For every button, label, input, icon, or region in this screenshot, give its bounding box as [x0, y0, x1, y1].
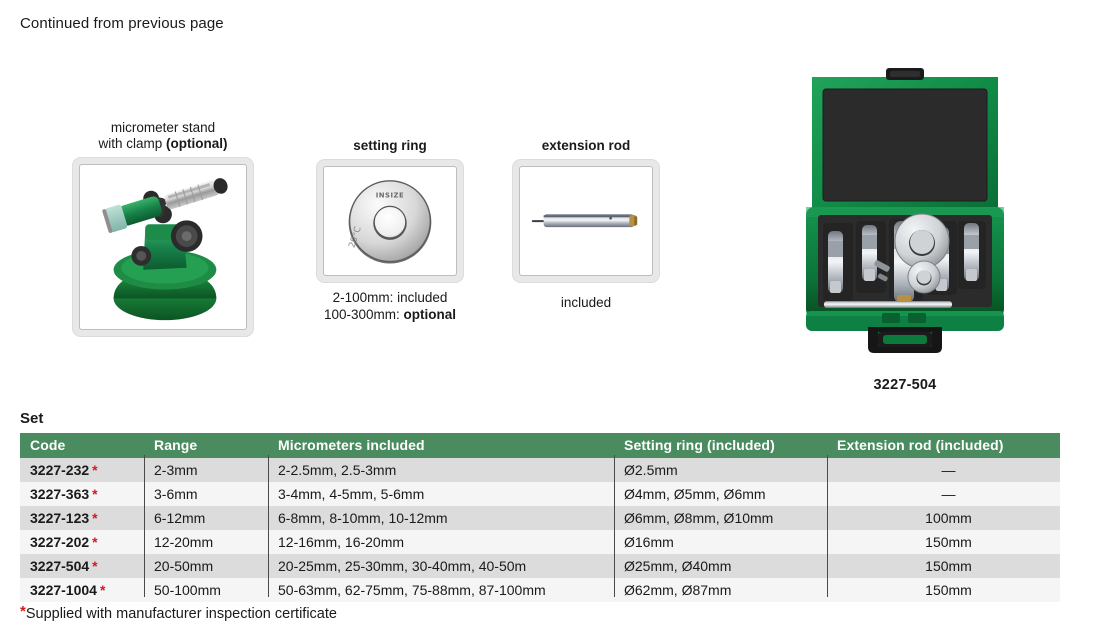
- cell-micrometers: 3-4mm, 4-5mm, 5-6mm: [268, 482, 614, 506]
- cell-micrometers: 50-63mm, 62-75mm, 75-88mm, 87-100mm: [268, 578, 614, 602]
- figure-sub-extension-rod-line1: included: [512, 295, 660, 311]
- cell-code: 3227-232*: [20, 458, 144, 482]
- footnote-text: Supplied with manufacturer inspection ce…: [26, 606, 337, 622]
- column-divider-1: [144, 455, 145, 597]
- cell-extension-rod: 150mm: [827, 554, 1060, 578]
- photo-micrometer-stand: [79, 164, 247, 330]
- cell-code: 3227-202*: [20, 530, 144, 554]
- photo-set-case: [790, 55, 1020, 365]
- cell-extension-rod: —: [827, 482, 1060, 506]
- cell-setting-ring: Ø6mm, Ø8mm, Ø10mm: [614, 506, 827, 530]
- cell-code: 3227-504*: [20, 554, 144, 578]
- column-header-micrometers: Micrometers included: [268, 433, 614, 458]
- photo-extension-rod: [519, 166, 653, 276]
- cell-range: 50-100mm: [144, 578, 268, 602]
- cell-setting-ring: Ø2.5mm: [614, 458, 827, 482]
- figure-extension-rod: extension rod: [512, 138, 660, 311]
- code-value: 3227-232: [30, 462, 89, 478]
- figure-label-set-case: 3227-504: [790, 377, 1020, 393]
- figure-setting-ring: setting ring: [316, 138, 464, 323]
- certificate-asterisk-icon: *: [89, 510, 97, 526]
- cell-micrometers: 2-2.5mm, 2.5-3mm: [268, 458, 614, 482]
- footnote: *Supplied with manufacturer inspection c…: [20, 603, 337, 622]
- set-case-illustration: [790, 55, 1020, 365]
- certificate-asterisk-icon: *: [89, 462, 97, 478]
- cell-extension-rod: 150mm: [827, 578, 1060, 602]
- figure-caption-setting-ring: setting ring: [316, 138, 464, 154]
- setting-ring-illustration: INSIZE 20°C: [324, 167, 456, 275]
- table-row: 3227-504*20-50mm20-25mm, 25-30mm, 30-40m…: [20, 554, 1060, 578]
- certificate-asterisk-icon: *: [89, 534, 97, 550]
- cell-extension-rod: 150mm: [827, 530, 1060, 554]
- svg-text:INSIZE: INSIZE: [376, 192, 404, 200]
- continued-from-previous-page-note: Continued from previous page: [20, 15, 224, 32]
- column-divider-4: [827, 455, 828, 597]
- caption-bold-text: (optional): [166, 136, 227, 151]
- set-spec-table-container: Code Range Micrometers included Setting …: [20, 433, 1060, 602]
- photo-setting-ring: INSIZE 20°C: [323, 166, 457, 276]
- table-body: 3227-232*2-3mm2-2.5mm, 2.5-3mmØ2.5mm—322…: [20, 458, 1060, 602]
- cell-micrometers: 20-25mm, 25-30mm, 30-40mm, 40-50m: [268, 554, 614, 578]
- code-value: 3227-363: [30, 486, 89, 502]
- cell-micrometers: 12-16mm, 16-20mm: [268, 530, 614, 554]
- cell-micrometers: 6-8mm, 8-10mm, 10-12mm: [268, 506, 614, 530]
- code-value: 3227-123: [30, 510, 89, 526]
- sub-plain-text: 100-300mm:: [324, 307, 404, 322]
- cell-range: 12-20mm: [144, 530, 268, 554]
- table-header-row: Code Range Micrometers included Setting …: [20, 433, 1060, 458]
- photo-frame-setting-ring: INSIZE 20°C: [316, 159, 464, 283]
- column-header-code: Code: [20, 433, 144, 458]
- photo-frame-extension-rod: [512, 159, 660, 283]
- caption-plain-text: with clamp: [98, 136, 166, 151]
- figure-sub-setting-ring-line2: 100-300mm: optional: [316, 307, 464, 323]
- cell-setting-ring: Ø16mm: [614, 530, 827, 554]
- figure-caption-extension-rod: extension rod: [512, 138, 660, 154]
- cell-range: 6-12mm: [144, 506, 268, 530]
- column-header-setting-ring: Setting ring (included): [614, 433, 827, 458]
- extension-rod-illustration: [520, 167, 652, 275]
- cell-setting-ring: Ø25mm, Ø40mm: [614, 554, 827, 578]
- table-row: 3227-232*2-3mm2-2.5mm, 2.5-3mmØ2.5mm—: [20, 458, 1060, 482]
- column-divider-3: [614, 455, 615, 597]
- figure-micrometer-stand: micrometer stand with clamp (optional): [72, 120, 254, 337]
- table-row: 3227-1004*50-100mm50-63mm, 62-75mm, 75-8…: [20, 578, 1060, 602]
- column-header-range: Range: [144, 433, 268, 458]
- figure-caption-micrometer-stand-line2: with clamp (optional): [72, 136, 254, 152]
- cell-code: 3227-363*: [20, 482, 144, 506]
- cell-range: 2-3mm: [144, 458, 268, 482]
- cell-setting-ring: Ø4mm, Ø5mm, Ø6mm: [614, 482, 827, 506]
- sub-bold-text: optional: [404, 307, 457, 322]
- set-section-label: Set: [20, 410, 43, 427]
- code-value: 3227-1004: [30, 582, 97, 598]
- certificate-asterisk-icon: *: [89, 486, 97, 502]
- cell-extension-rod: 100mm: [827, 506, 1060, 530]
- certificate-asterisk-icon: *: [89, 558, 97, 574]
- column-header-extension-rod: Extension rod (included): [827, 433, 1060, 458]
- column-divider-2: [268, 455, 269, 597]
- photo-frame-micrometer-stand: [72, 157, 254, 337]
- table-row: 3227-363*3-6mm3-4mm, 4-5mm, 5-6mmØ4mm, Ø…: [20, 482, 1060, 506]
- figure-sub-setting-ring-line1: 2-100mm: included: [316, 290, 464, 306]
- cell-code: 3227-1004*: [20, 578, 144, 602]
- micrometer-stand-illustration: [80, 165, 246, 329]
- table-header: Code Range Micrometers included Setting …: [20, 433, 1060, 458]
- certificate-asterisk-icon: *: [97, 582, 105, 598]
- cell-code: 3227-123*: [20, 506, 144, 530]
- code-value: 3227-202: [30, 534, 89, 550]
- table-row: 3227-123*6-12mm6-8mm, 8-10mm, 10-12mmØ6m…: [20, 506, 1060, 530]
- cell-setting-ring: Ø62mm, Ø87mm: [614, 578, 827, 602]
- figure-set-case: 3227-504: [790, 55, 1020, 393]
- cell-extension-rod: —: [827, 458, 1060, 482]
- figure-caption-micrometer-stand-line1: micrometer stand: [72, 120, 254, 136]
- cell-range: 20-50mm: [144, 554, 268, 578]
- code-value: 3227-504: [30, 558, 89, 574]
- set-spec-table: Code Range Micrometers included Setting …: [20, 433, 1060, 602]
- table-row: 3227-202*12-20mm12-16mm, 16-20mmØ16mm150…: [20, 530, 1060, 554]
- cell-range: 3-6mm: [144, 482, 268, 506]
